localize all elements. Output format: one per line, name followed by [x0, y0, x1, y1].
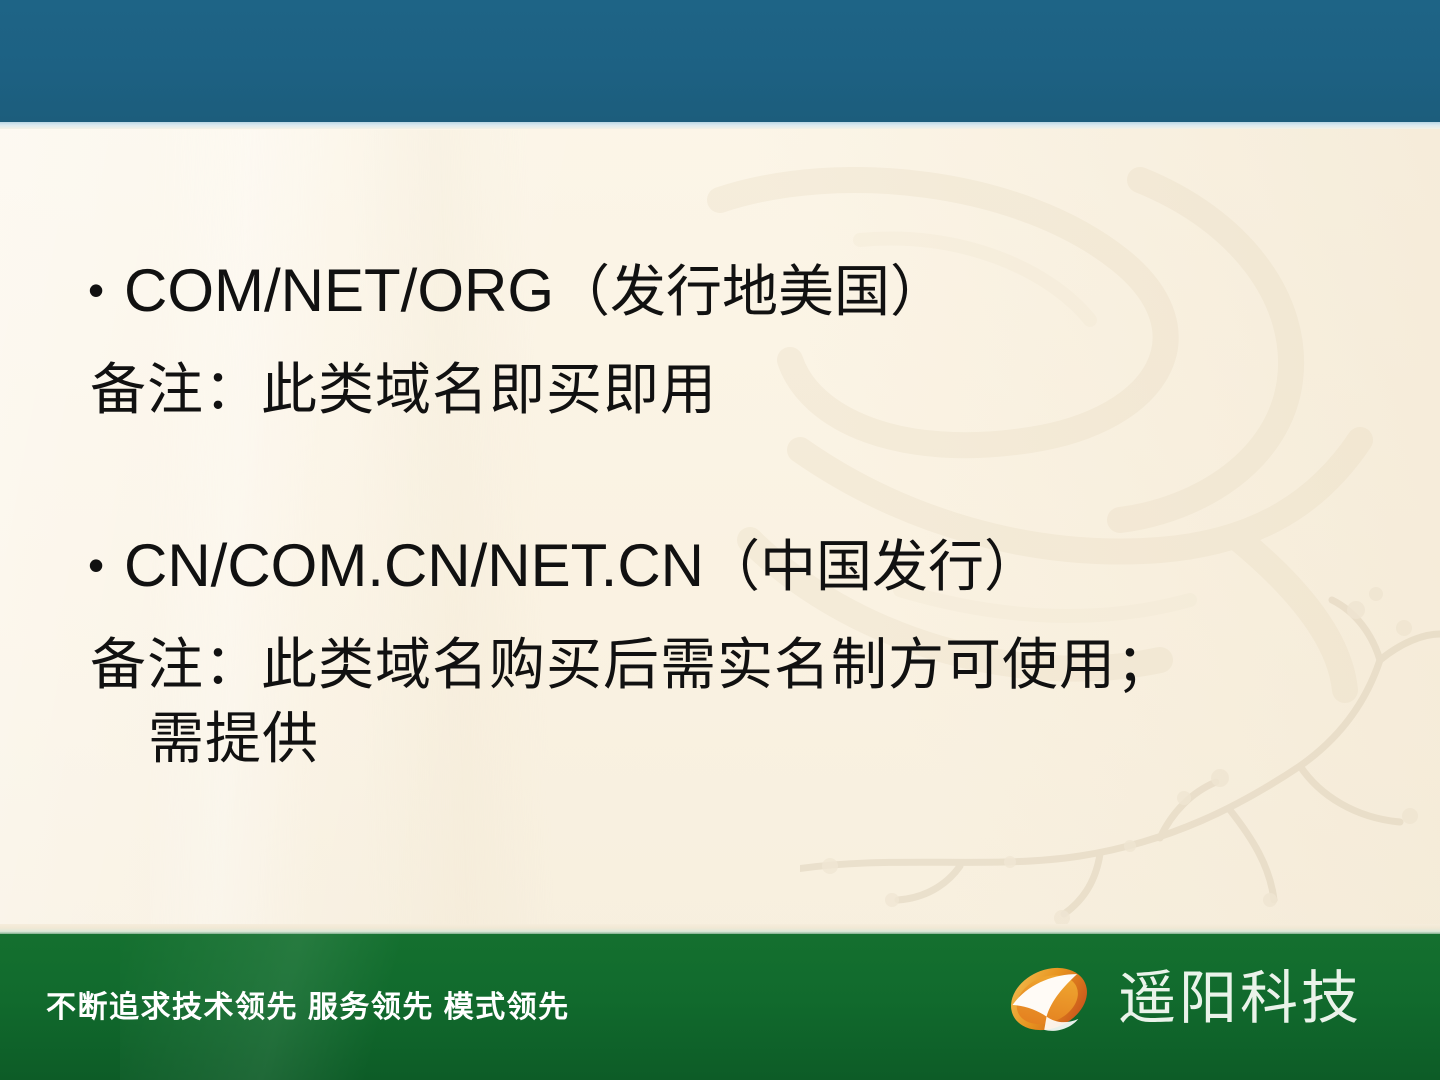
bullet-item-1: • COM/NET/ORG（发行地美国）	[78, 254, 1378, 330]
yaoyang-swoosh-logo-icon	[1002, 952, 1096, 1046]
content-block-1: • COM/NET/ORG（发行地美国） 备注：此类域名即买即用	[78, 254, 1378, 428]
brand-name: 遥阳科技	[1118, 966, 1362, 1032]
content-block-2: • CN/COM.CN/NET.CN（中国发行） 备注：此类域名购买后需实名制方…	[78, 529, 1378, 777]
footer-slogan: 不断追求技术领先 服务领先 模式领先	[46, 982, 570, 1026]
note-item-1: 备注：此类域名即买即用	[78, 354, 1305, 428]
footer-divider-rule	[0, 924, 1440, 934]
brand-lockup: 遥阳科技	[1002, 952, 1362, 1046]
presentation-slide: 英文域名 • COM/NET/ORG（发行地美国） 备注：此类域名即买即用 • …	[0, 0, 1440, 1080]
note-item-2-continuation: 需提供	[78, 703, 1378, 777]
slide-header-band	[0, 0, 1440, 122]
bullet-item-1-latin: COM/NET/ORG	[124, 257, 554, 324]
bullet-marker-icon: •	[78, 529, 124, 601]
bullet-item-2: • CN/COM.CN/NET.CN（中国发行）	[78, 529, 1378, 605]
bullet-item-1-cjk: （发行地美国）	[554, 262, 946, 324]
bullet-marker-icon: •	[78, 254, 124, 326]
bullet-item-2-text: CN/COM.CN/NET.CN（中国发行）	[124, 529, 1040, 605]
header-divider-rule	[0, 122, 1440, 129]
bullet-item-1-text: COM/NET/ORG（发行地美国）	[124, 254, 946, 330]
bullet-item-2-latin: CN/COM.CN/NET.CN	[124, 532, 704, 599]
slide-footer-band: 不断追求技术领先 服务领先 模式领先	[0, 934, 1440, 1080]
slide-body: • COM/NET/ORG（发行地美国） 备注：此类域名即买即用 • CN/CO…	[0, 129, 1440, 932]
bullet-item-2-cjk: （中国发行）	[704, 537, 1040, 599]
note-item-2: 备注：此类域名购买后需实名制方可使用；	[78, 629, 1305, 703]
